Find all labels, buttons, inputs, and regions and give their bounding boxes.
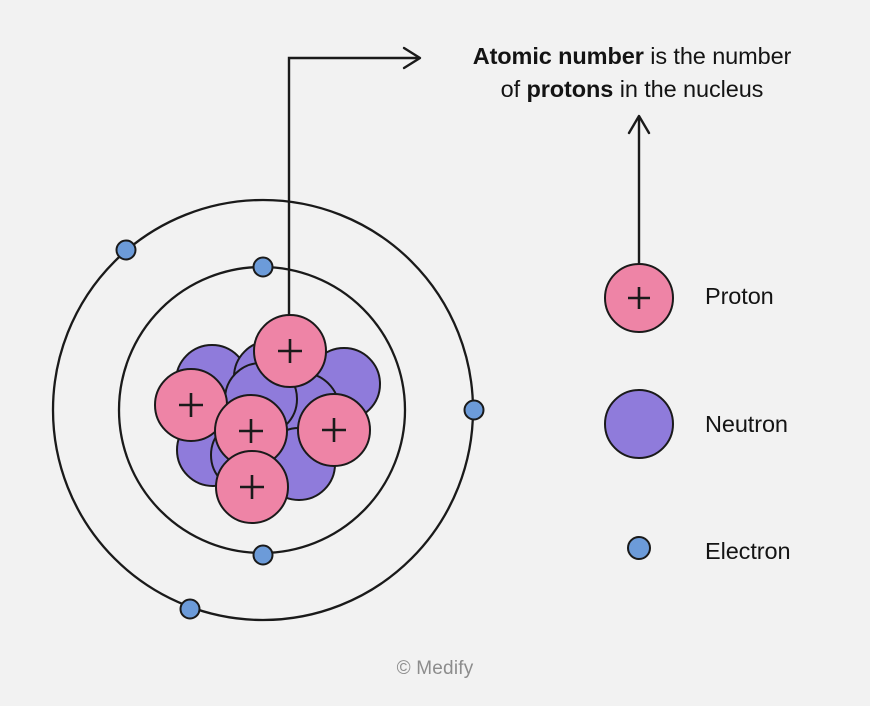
callout-term-protons: protons bbox=[527, 76, 614, 102]
footer-credit: © Medify bbox=[0, 658, 870, 680]
electron-particle bbox=[117, 241, 136, 260]
callout-line1: Atomic number is the number bbox=[473, 43, 792, 69]
callout-line1-rest: is the number bbox=[644, 43, 792, 69]
callout-line2-rest: in the nucleus bbox=[613, 76, 763, 102]
legend-proton-swatch bbox=[605, 264, 673, 332]
electron-particle bbox=[254, 258, 273, 277]
callout-line2-pre: of bbox=[501, 76, 527, 102]
legend-neutron-swatch bbox=[605, 390, 673, 458]
diagram-canvas: Atomic number is the number of protons i… bbox=[0, 0, 870, 706]
legend-electron-swatch bbox=[628, 537, 650, 559]
legend-swatches bbox=[605, 264, 673, 559]
legend-label-electron: Electron bbox=[705, 538, 790, 565]
callout-text: Atomic number is the number of protons i… bbox=[432, 40, 832, 107]
proton-particle bbox=[298, 394, 370, 466]
callout-leader-line bbox=[289, 48, 420, 352]
proton-particle bbox=[216, 451, 288, 523]
legend-label-neutron: Neutron bbox=[705, 411, 788, 438]
callout-line2: of protons in the nucleus bbox=[501, 76, 764, 102]
proton-particle bbox=[254, 315, 326, 387]
legend-proton-arrow bbox=[629, 116, 649, 272]
electron-particle bbox=[181, 600, 200, 619]
nucleus-protons bbox=[155, 315, 370, 523]
legend-label-proton: Proton bbox=[705, 283, 774, 310]
electron-particle bbox=[254, 546, 273, 565]
callout-term-atomic-number: Atomic number bbox=[473, 43, 644, 69]
electron-particle bbox=[465, 401, 484, 420]
